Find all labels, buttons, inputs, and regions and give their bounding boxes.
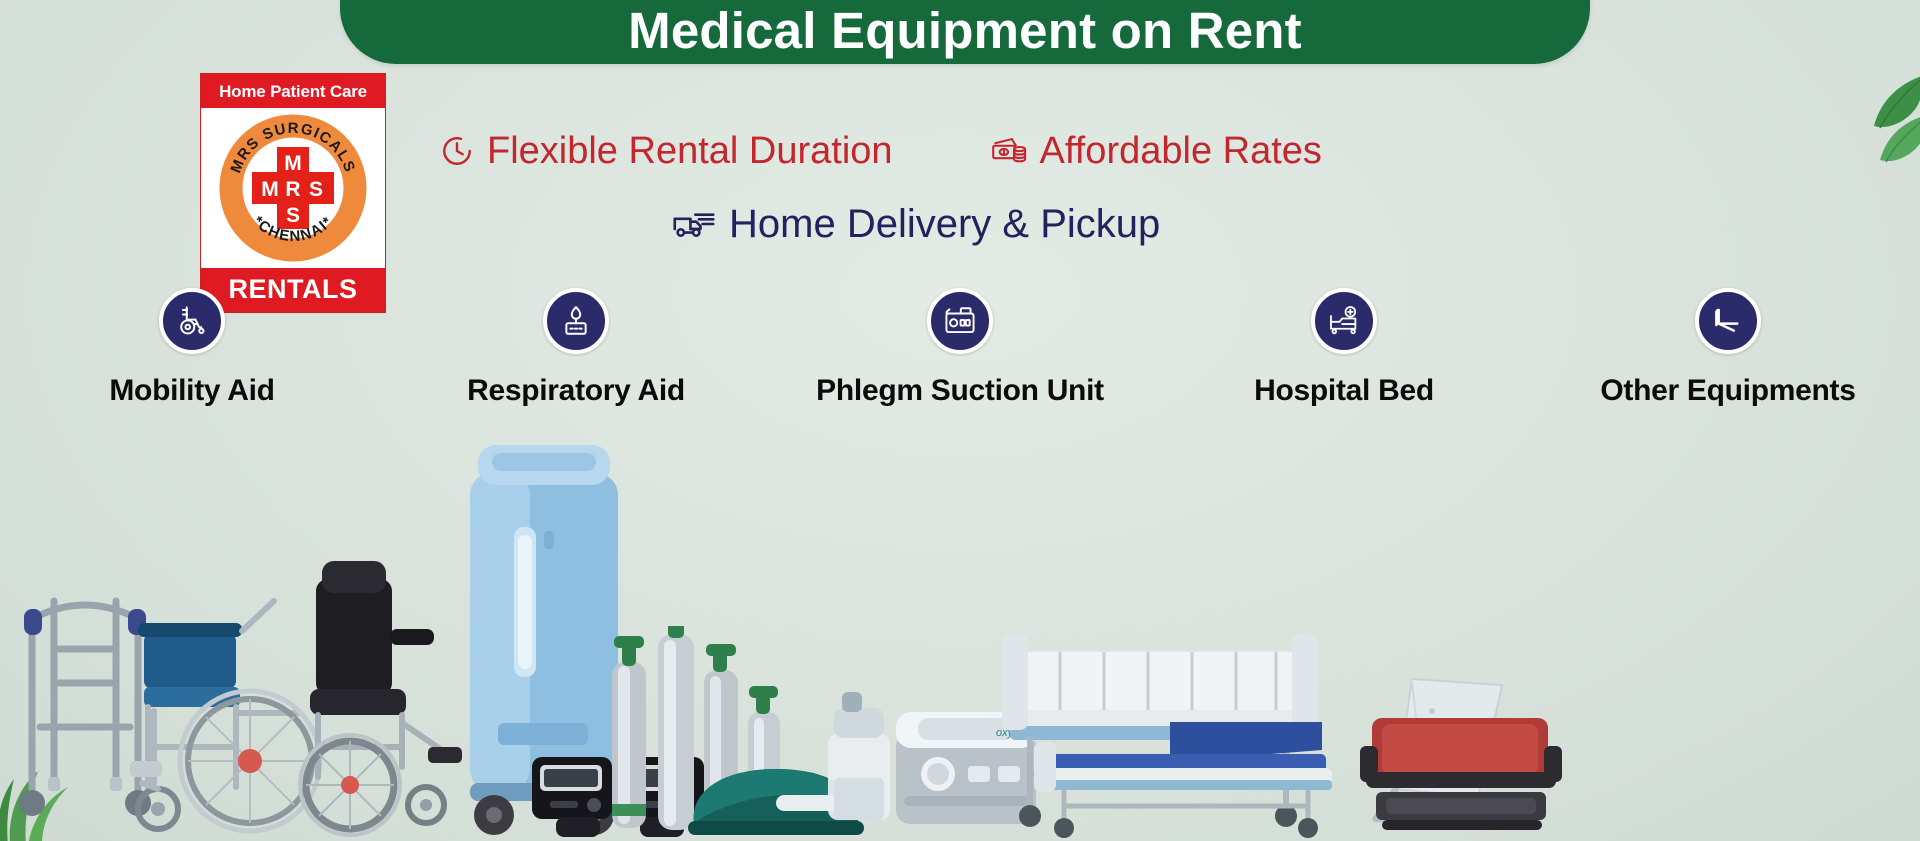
- product-showcase: oxymed: [0, 411, 1920, 841]
- category-label: Hospital Bed: [1254, 373, 1434, 410]
- product-hospital-bed-blue: [1030, 706, 1340, 841]
- category-label: Other Equipments: [1600, 373, 1855, 410]
- category-label: Mobility Aid: [109, 373, 274, 410]
- tagline-affordable-rates: Affordable Rates: [991, 132, 1322, 170]
- tagline-text: Affordable Rates: [1040, 132, 1322, 170]
- banner-canvas: Medical Equipment on Rent Home Patient C…: [0, 0, 1920, 841]
- category-list: Mobility Aid Respiratory Aid: [0, 288, 1920, 410]
- svg-text:M: M: [284, 152, 302, 175]
- svg-text:S: S: [286, 204, 300, 227]
- logo-top-bar-text: Home Patient Care: [201, 74, 385, 108]
- tagline-row-primary: Flexible Rental Duration Affordable Rate…: [440, 132, 1322, 170]
- wheelchair-icon[interactable]: [159, 288, 225, 354]
- category-label: Phlegm Suction Unit: [816, 373, 1104, 410]
- svg-text:M: M: [261, 178, 279, 201]
- category-label: Respiratory Aid: [467, 373, 685, 410]
- header-banner: Medical Equipment on Rent: [340, 0, 1590, 64]
- category-phlegm-suction-unit[interactable]: Phlegm Suction Unit: [768, 288, 1152, 410]
- category-respiratory-aid[interactable]: Respiratory Aid: [384, 288, 768, 410]
- page-title: Medical Equipment on Rent: [628, 5, 1302, 56]
- category-hospital-bed[interactable]: Hospital Bed: [1152, 288, 1536, 410]
- product-air-mattress-red: [1352, 706, 1572, 841]
- mrs-surgicals-seal-icon: M M R S S MRS SURGICALS *CHENNAI*: [218, 113, 368, 263]
- hospital-bed-icon[interactable]: [1311, 288, 1377, 354]
- money-icon: [991, 134, 1027, 168]
- tagline-text: Home Delivery & Pickup: [729, 204, 1160, 244]
- suction-machine-icon[interactable]: [927, 288, 993, 354]
- tagline-row-secondary: Home Delivery & Pickup: [672, 204, 1160, 244]
- category-other-equipments[interactable]: Other Equipments: [1536, 288, 1920, 410]
- clock-icon: [440, 134, 474, 168]
- company-logo: Home Patient Care M M R S S: [200, 73, 386, 313]
- tagline-text: Flexible Rental Duration: [487, 132, 893, 170]
- backrest-icon[interactable]: [1695, 288, 1761, 354]
- tagline-flexible-rental-duration: Flexible Rental Duration: [440, 132, 893, 170]
- logo-seal: M M R S S MRS SURGICALS *CHENNAI*: [201, 108, 385, 268]
- nebulizer-icon[interactable]: [543, 288, 609, 354]
- svg-text:R: R: [285, 178, 300, 201]
- delivery-truck-icon: [672, 208, 716, 240]
- air-mattress-red-image: [1352, 706, 1572, 841]
- category-mobility-aid[interactable]: Mobility Aid: [0, 288, 384, 410]
- leaf-decoration-icon: [1794, 70, 1920, 200]
- hospital-bed-blue-image: [1030, 706, 1340, 841]
- tagline-home-delivery-pickup: Home Delivery & Pickup: [672, 204, 1160, 244]
- svg-text:S: S: [309, 178, 323, 201]
